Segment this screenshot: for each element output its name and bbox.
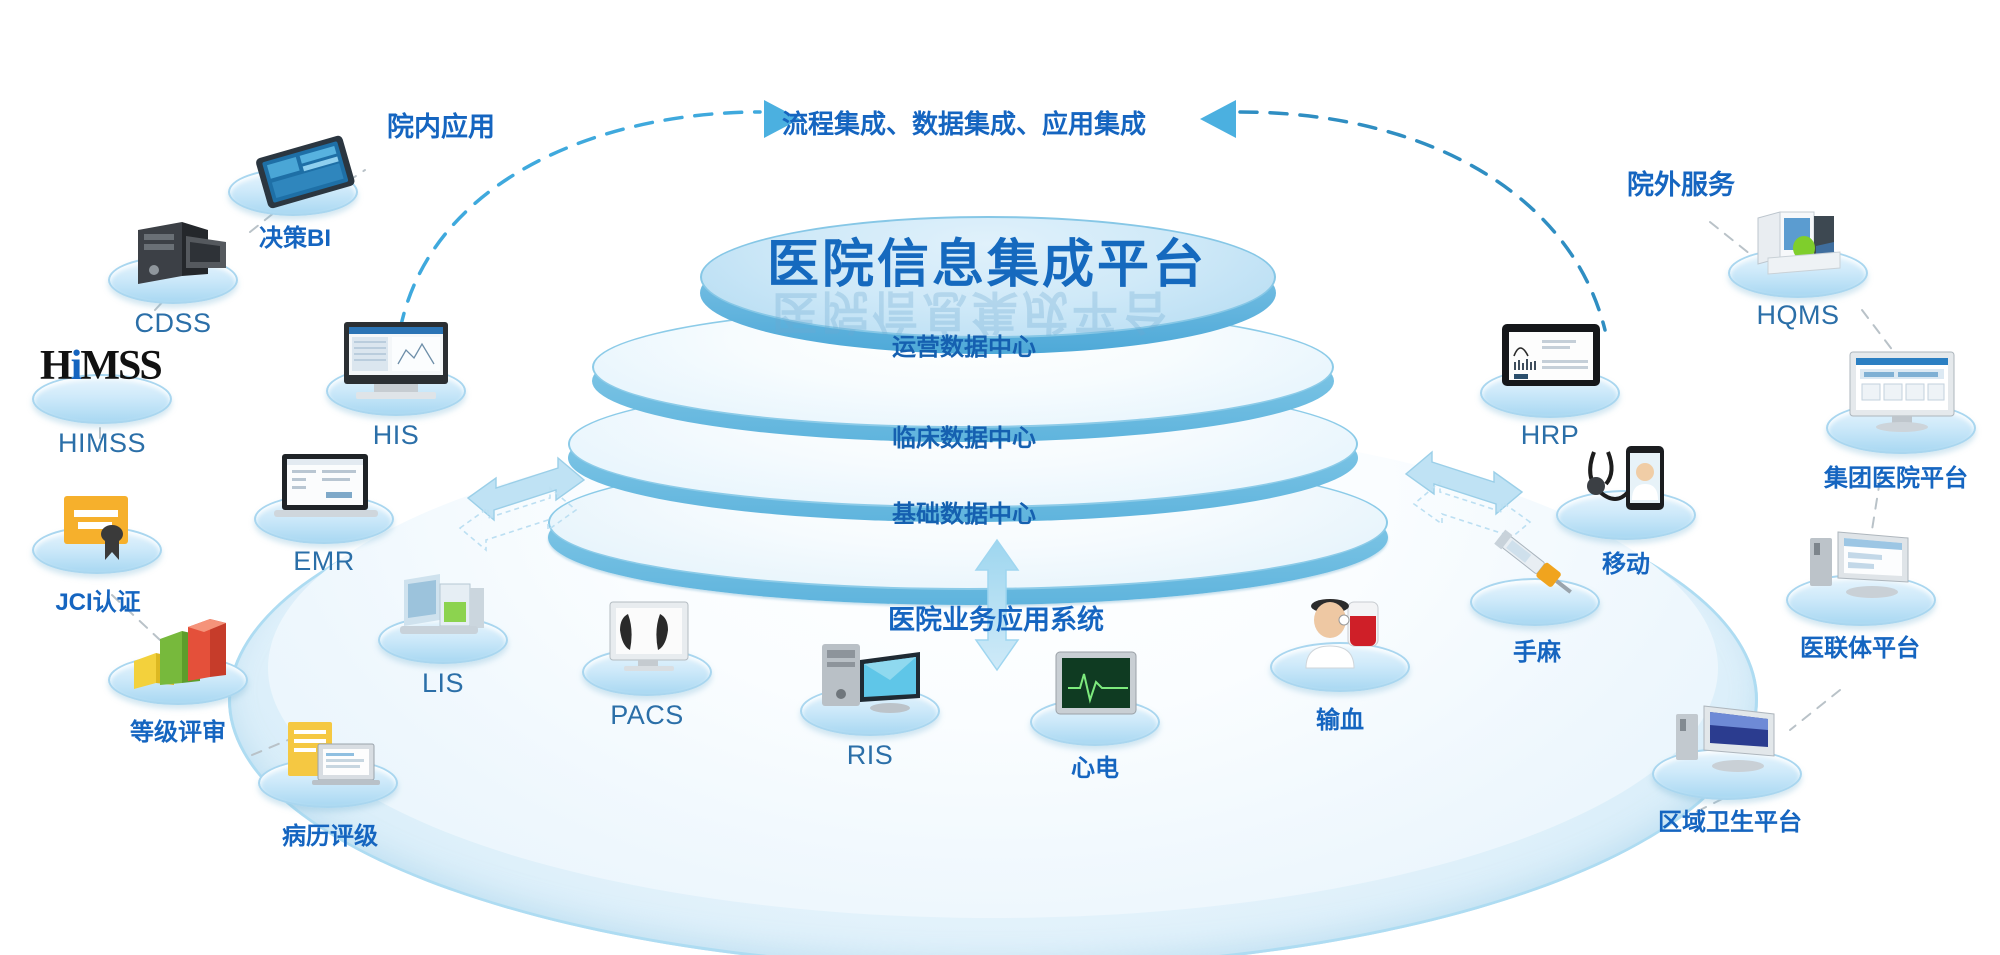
node-grade[interactable]	[108, 615, 248, 705]
laptop-icon	[274, 452, 378, 524]
node-emr-rating[interactable]	[258, 718, 398, 808]
node-label-ris: RIS	[810, 740, 930, 771]
tablet-dashboard-icon	[250, 138, 360, 204]
node-regional-platform[interactable]	[1652, 700, 1802, 800]
node-group-platform[interactable]	[1826, 350, 1976, 454]
document-laptop-icon	[282, 718, 386, 794]
blood-bag-doctor-icon	[1292, 596, 1392, 674]
node-label-jci: JCI认证	[30, 582, 166, 617]
node-mobile[interactable]	[1556, 444, 1696, 540]
node-label-group-platform: 集团医院平台	[1798, 458, 1994, 493]
node-hrp[interactable]	[1480, 322, 1620, 418]
node-label-emr-rating: 病历评级	[258, 816, 402, 851]
node-label-pacs: PACS	[587, 700, 707, 731]
node-his[interactable]	[326, 320, 466, 416]
node-label-lis: LIS	[388, 668, 498, 699]
layer-label-basic: 基础数据中心	[892, 494, 1036, 529]
node-emr[interactable]	[254, 452, 394, 544]
node-ris[interactable]	[800, 640, 940, 736]
node-label-regional-platform: 区域卫生平台	[1640, 802, 1820, 837]
node-label-cdss: CDSS	[118, 308, 228, 339]
folder-documents-icon	[1750, 206, 1850, 278]
headline-internal-apps: 院内应用	[387, 105, 495, 144]
node-label-ecg: 心电	[1040, 748, 1150, 783]
node-label-himss: HIMSS	[42, 428, 162, 459]
node-hqms[interactable]	[1728, 206, 1868, 298]
left-flow-arrows-icon	[438, 458, 588, 558]
node-union-platform[interactable]	[1786, 526, 1936, 626]
server-monitor-icon	[816, 640, 926, 718]
node-label-hqms: HQMS	[1736, 300, 1860, 331]
arc-label: 流程集成、数据集成、应用集成	[782, 104, 1146, 141]
node-label-his: HIS	[336, 420, 456, 451]
himss-logo-icon: HiMSS	[40, 342, 164, 394]
layer-label-clinical: 临床数据中心	[892, 418, 1036, 453]
node-label-emr: EMR	[264, 546, 384, 577]
node-blood[interactable]	[1270, 596, 1410, 692]
node-label-blood: 输血	[1275, 700, 1405, 735]
headline-external-services: 院外服务	[1627, 163, 1735, 202]
server-rack-icon	[130, 218, 234, 290]
diagram-canvas: 流程集成、数据集成、应用集成 院内应用 院外服务 医院信息集成平台 医院信息集成…	[0, 0, 2000, 955]
stethoscope-phone-icon	[1574, 444, 1680, 520]
node-himss[interactable]: HiMSS	[32, 340, 172, 424]
desktop-monitor-icon	[340, 320, 452, 404]
node-pacs[interactable]	[582, 600, 712, 696]
node-label-anesthesia: 手麻	[1478, 632, 1596, 667]
node-jci[interactable]	[32, 490, 162, 574]
pc-monitor-icon	[1804, 526, 1920, 606]
node-lis[interactable]	[378, 572, 508, 664]
pc-monitor-blue-icon	[1670, 700, 1786, 780]
node-bi[interactable]	[228, 138, 358, 216]
bar-chart-3d-icon	[130, 615, 234, 691]
node-cdss[interactable]	[108, 218, 238, 304]
business-systems-label: 医院业务应用系统	[888, 598, 1104, 637]
ecg-monitor-icon	[1054, 650, 1138, 722]
tablet-report-icon	[1498, 322, 1604, 398]
node-label-union-platform: 医联体平台	[1770, 628, 1950, 663]
certificate-seal-icon	[58, 490, 144, 562]
xray-monitor-icon	[608, 600, 690, 676]
node-label-bi: 决策BI	[240, 218, 350, 253]
node-ecg[interactable]	[1030, 650, 1160, 746]
lab-analyzer-icon	[394, 572, 494, 644]
layer-label-operation: 运营数据中心	[892, 327, 1036, 362]
monitor-portal-icon	[1844, 350, 1960, 434]
node-label-mobile: 移动	[1556, 544, 1696, 579]
node-label-grade: 等级评审	[106, 712, 250, 747]
